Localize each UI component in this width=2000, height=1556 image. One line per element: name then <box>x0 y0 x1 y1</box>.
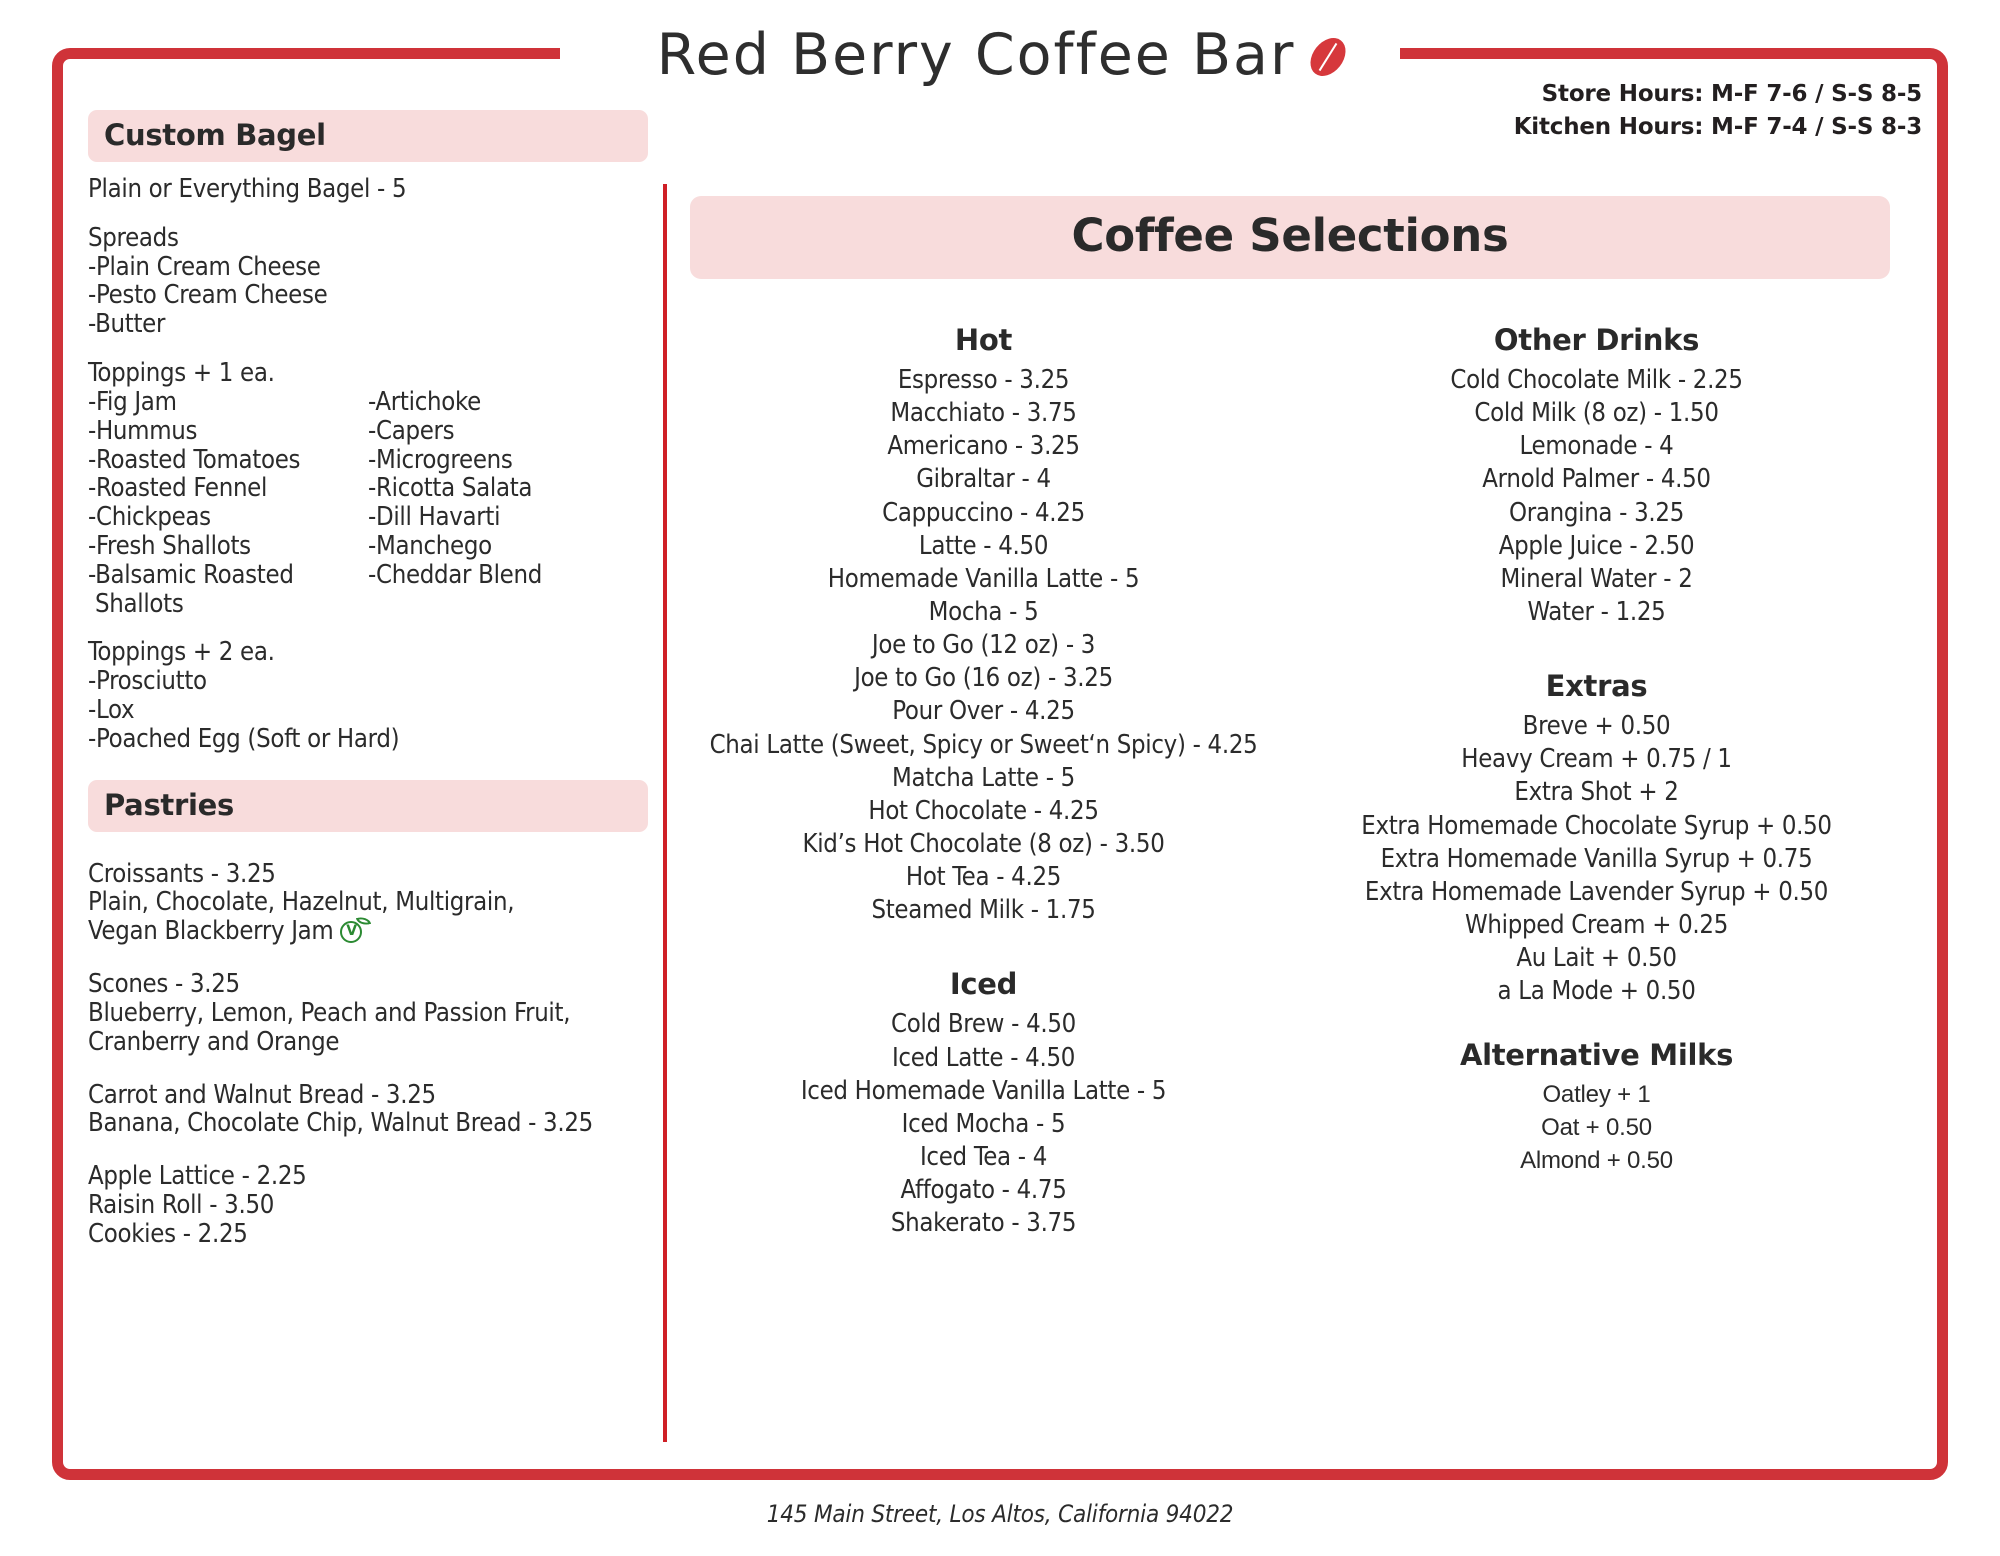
list-item: -Chickpeas <box>88 503 368 532</box>
spreads-label: Spreads <box>88 224 648 253</box>
toppings-tier1-label: Toppings + 1 ea. <box>88 359 648 388</box>
list-item: Mocha - 5 <box>690 596 1277 629</box>
list-item: Whipped Cream + 0.25 <box>1303 909 1890 942</box>
list-item: Heavy Cream + 0.75 / 1 <box>1303 743 1890 776</box>
toppings-tier1-col2: -Artichoke -Capers -Microgreens -Ricotta… <box>368 388 648 619</box>
toppings-tier2-label: Toppings + 2 ea. <box>88 638 648 667</box>
pastries-heading: Pastries <box>88 780 648 832</box>
list-item: -Capers <box>368 417 648 446</box>
pastry-group-breads: Carrot and Walnut Bread - 3.25 Banana, C… <box>88 1081 648 1139</box>
list-item: Extra Homemade Lavender Syrup + 0.50 <box>1303 876 1890 909</box>
menu-page: Red Berry Coffee Bar Store Hours: M-F 7-… <box>0 0 2000 1556</box>
custom-bagel-heading: Custom Bagel <box>88 110 648 162</box>
extras-section: Extras Breve + 0.50 Heavy Cream + 0.75 /… <box>1303 669 1890 1008</box>
toppings-tier1-group: Toppings + 1 ea. -Fig Jam -Hummus -Roast… <box>88 359 648 618</box>
list-item: Cookies - 2.25 <box>88 1220 648 1249</box>
toppings-tier1-grid: -Fig Jam -Hummus -Roasted Tomatoes -Roas… <box>88 388 648 619</box>
column-divider <box>663 184 667 1442</box>
list-item: Oatley + 1 <box>1303 1079 1890 1112</box>
list-item: -Poached Egg (Soft or Hard) <box>88 725 648 754</box>
bagel-base-line: Plain or Everything Bagel - 5 <box>88 175 648 204</box>
pastry-variants-line: Blueberry, Lemon, Peach and Passion Frui… <box>88 999 648 1028</box>
toppings-tier2-group: Toppings + 2 ea. -Prosciutto -Lox -Poach… <box>88 638 648 753</box>
other-extras-column: Other Drinks Cold Chocolate Milk - 2.25 … <box>1303 323 1890 1240</box>
list-item: Affogato - 4.75 <box>690 1174 1277 1207</box>
list-item: Latte - 4.50 <box>690 530 1277 563</box>
pastry-title: Croissants - 3.25 <box>88 860 648 889</box>
pastry-title: Carrot and Walnut Bread - 3.25 <box>88 1081 648 1110</box>
list-item: Breve + 0.50 <box>1303 710 1890 743</box>
kitchen-hours-line: Kitchen Hours: M-F 7-4 / S-S 8-3 <box>1514 111 1922 144</box>
other-drinks-section: Other Drinks Cold Chocolate Milk - 2.25 … <box>1303 323 1890 629</box>
spreads-group: Spreads -Plain Cream Cheese -Pesto Cream… <box>88 224 648 339</box>
coffee-bean-icon <box>1304 31 1353 83</box>
section-spacer <box>88 754 648 780</box>
list-item: Extra Homemade Chocolate Syrup + 0.50 <box>1303 810 1890 843</box>
store-hours-block: Store Hours: M-F 7-6 / S-S 8-5 Kitchen H… <box>1514 78 1922 143</box>
list-item: Steamed Milk - 1.75 <box>690 894 1277 927</box>
list-item: Au Lait + 0.50 <box>1303 942 1890 975</box>
pastry-variants-line-with-badge: Vegan Blackberry JamV <box>88 917 648 946</box>
footer-address: 145 Main Street, Los Altos, California 9… <box>0 1500 2000 1528</box>
list-item: Raisin Roll - 3.50 <box>88 1191 648 1220</box>
list-item: -Ricotta Salata <box>368 474 648 503</box>
list-item: Hot Chocolate - 4.25 <box>690 795 1277 828</box>
list-item: a La Mode + 0.50 <box>1303 975 1890 1008</box>
pastry-group-croissants: Croissants - 3.25 Plain, Chocolate, Haze… <box>88 860 648 946</box>
list-item: Pour Over - 4.25 <box>690 695 1277 728</box>
coffee-sections: Hot Espresso - 3.25 Macchiato - 3.75 Ame… <box>690 323 1890 1240</box>
list-item: -Prosciutto <box>88 667 648 696</box>
list-item: -Cheddar Blend <box>368 561 648 590</box>
list-item: Macchiato - 3.75 <box>690 397 1277 430</box>
toppings-tier1-col1: -Fig Jam -Hummus -Roasted Tomatoes -Roas… <box>88 388 368 619</box>
section-spacer <box>1303 629 1890 669</box>
list-item: -Pesto Cream Cheese <box>88 281 648 310</box>
pastry-variants-line: Cranberry and Orange <box>88 1028 648 1057</box>
coffee-column: Coffee Selections Hot Espresso - 3.25 Ma… <box>690 196 1890 1240</box>
hot-section: Hot Espresso - 3.25 Macchiato - 3.75 Ame… <box>690 323 1277 927</box>
list-item: Joe to Go (16 oz) - 3.25 <box>690 662 1277 695</box>
list-item: Kid’s Hot Chocolate (8 oz) - 3.50 <box>690 828 1277 861</box>
list-item: -Fresh Shallots <box>88 532 368 561</box>
list-item: Cold Brew - 4.50 <box>690 1008 1277 1041</box>
list-item: Espresso - 3.25 <box>690 364 1277 397</box>
list-item: Matcha Latte - 5 <box>690 762 1277 795</box>
list-item: Oat + 0.50 <box>1303 1112 1890 1145</box>
custom-bagel-content: Plain or Everything Bagel - 5 Spreads -P… <box>88 175 648 754</box>
list-item: -Butter <box>88 310 648 339</box>
pastry-singles-group: Apple Lattice - 2.25 Raisin Roll - 3.50 … <box>88 1162 648 1248</box>
section-spacer <box>690 927 1277 967</box>
list-item: Orangina - 3.25 <box>1303 497 1890 530</box>
brand-title-text: Red Berry Coffee Bar <box>657 22 1296 88</box>
list-item: -Roasted Tomatoes <box>88 446 368 475</box>
extras-heading: Extras <box>1303 669 1890 703</box>
list-item: -Plain Cream Cheese <box>88 253 648 282</box>
iced-heading: Iced <box>690 967 1277 1001</box>
hot-iced-column: Hot Espresso - 3.25 Macchiato - 3.75 Ame… <box>690 323 1303 1240</box>
list-item: Lemonade - 4 <box>1303 430 1890 463</box>
list-item: Mineral Water - 2 <box>1303 563 1890 596</box>
list-item: -Microgreens <box>368 446 648 475</box>
list-item: Shallots <box>88 590 368 619</box>
iced-section: Iced Cold Brew - 4.50 Iced Latte - 4.50 … <box>690 967 1277 1240</box>
list-item: Shakerato - 3.75 <box>690 1207 1277 1240</box>
pastry-variants-line: Plain, Chocolate, Hazelnut, Multigrain, <box>88 888 648 917</box>
list-item: Apple Juice - 2.50 <box>1303 530 1890 563</box>
list-item: Cappuccino - 4.25 <box>690 497 1277 530</box>
list-item: -Hummus <box>88 417 368 446</box>
alternative-milks-section: Alternative Milks Oatley + 1 Oat + 0.50 … <box>1303 1038 1890 1177</box>
coffee-selections-heading: Coffee Selections <box>690 196 1890 279</box>
list-item: Homemade Vanilla Latte - 5 <box>690 563 1277 596</box>
list-item: -Fig Jam <box>88 388 368 417</box>
list-item: Extra Shot + 2 <box>1303 776 1890 809</box>
list-item: Almond + 0.50 <box>1303 1145 1890 1178</box>
list-item: Apple Lattice - 2.25 <box>88 1162 648 1191</box>
list-item: Cold Milk (8 oz) - 1.50 <box>1303 397 1890 430</box>
list-item: Iced Tea - 4 <box>690 1141 1277 1174</box>
list-item: -Artichoke <box>368 388 648 417</box>
store-hours-line: Store Hours: M-F 7-6 / S-S 8-5 <box>1514 78 1922 111</box>
list-item: -Roasted Fennel <box>88 474 368 503</box>
list-item: Water - 1.25 <box>1303 596 1890 629</box>
pastries-content: Croissants - 3.25 Plain, Chocolate, Haze… <box>88 860 648 1249</box>
list-item: -Balsamic Roasted <box>88 561 368 590</box>
vegan-badge-icon: V <box>340 918 366 944</box>
list-item: Iced Homemade Vanilla Latte - 5 <box>690 1075 1277 1108</box>
left-column: Custom Bagel Plain or Everything Bagel -… <box>88 110 648 1249</box>
hot-heading: Hot <box>690 323 1277 357</box>
list-item: Americano - 3.25 <box>690 430 1277 463</box>
other-drinks-heading: Other Drinks <box>1303 323 1890 357</box>
list-item: Iced Latte - 4.50 <box>690 1042 1277 1075</box>
list-item: Chai Latte (Sweet, Spicy or Sweet‘n Spic… <box>690 729 1277 762</box>
list-item: Hot Tea - 4.25 <box>690 861 1277 894</box>
list-item: Arnold Palmer - 4.50 <box>1303 463 1890 496</box>
alternative-milks-heading: Alternative Milks <box>1303 1038 1890 1072</box>
section-spacer <box>1303 1008 1890 1038</box>
list-item: Joe to Go (12 oz) - 3 <box>690 629 1277 662</box>
list-item: Gibraltar - 4 <box>690 463 1277 496</box>
pastry-variants-line: Banana, Chocolate Chip, Walnut Bread - 3… <box>88 1109 648 1138</box>
list-item: Cold Chocolate Milk - 2.25 <box>1303 364 1890 397</box>
list-item: Iced Mocha - 5 <box>690 1108 1277 1141</box>
pastry-variants-line: Vegan Blackberry Jam <box>88 916 333 946</box>
list-item: -Manchego <box>368 532 648 561</box>
list-item: Extra Homemade Vanilla Syrup + 0.75 <box>1303 843 1890 876</box>
list-item: -Lox <box>88 696 648 725</box>
list-item: -Dill Havarti <box>368 503 648 532</box>
pastry-title: Scones - 3.25 <box>88 970 648 999</box>
pastry-group-scones: Scones - 3.25 Blueberry, Lemon, Peach an… <box>88 970 648 1056</box>
